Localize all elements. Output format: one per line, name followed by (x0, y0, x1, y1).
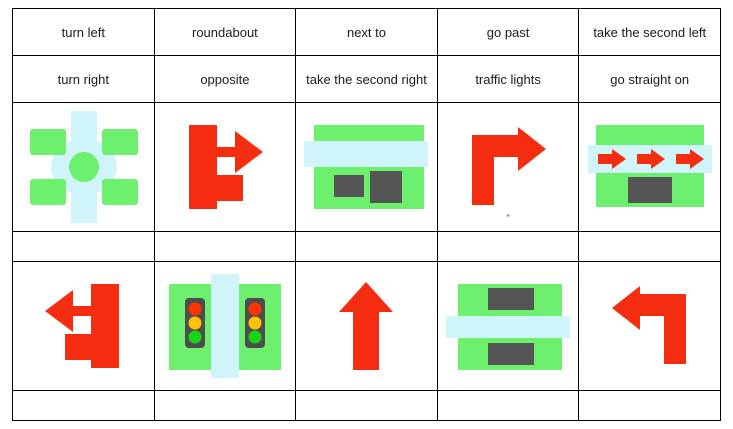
answer-cell[interactable] (154, 232, 296, 262)
go-straight-on-arrow-icon (296, 262, 437, 390)
vocab-label: turn left (62, 25, 105, 40)
vocab-cell-opposite: opposite (154, 56, 296, 103)
answer-cell[interactable] (13, 232, 155, 262)
answer-row-1 (13, 232, 721, 262)
icon-cell-take-second-right (154, 103, 296, 232)
answer-row-2 (13, 391, 721, 421)
answer-cell[interactable] (13, 391, 155, 421)
traffic-lights-icon (155, 262, 296, 390)
answer-cell[interactable] (296, 391, 438, 421)
vocab-cell-next-to: next to (296, 9, 438, 56)
vocab-label: next to (347, 25, 386, 40)
icon-cell-opposite (437, 262, 579, 391)
vocab-label: take the second left (593, 25, 706, 40)
vocab-label: take the second right (306, 72, 427, 87)
take-second-right-arrow-icon (155, 103, 296, 231)
icon-cell-turn-left (579, 262, 721, 391)
answer-cell[interactable] (579, 391, 721, 421)
answer-cell[interactable] (437, 232, 579, 262)
vocabulary-row-2: turn right opposite take the second righ… (13, 56, 721, 103)
vocab-label: roundabout (192, 25, 258, 40)
take-second-left-arrow-icon (13, 262, 154, 390)
opposite-buildings-icon (438, 262, 579, 390)
go-past-arrows-icon (579, 103, 720, 231)
vocab-cell-go-straight-on: go straight on (579, 56, 721, 103)
vocab-label: go straight on (610, 72, 689, 87)
quote-artifact: " (506, 214, 510, 223)
icon-row-1: " (13, 103, 721, 232)
icon-row-2 (13, 262, 721, 391)
icon-cell-take-second-left (13, 262, 155, 391)
vocab-label: turn right (58, 72, 109, 87)
answer-cell[interactable] (437, 391, 579, 421)
icon-cell-traffic-lights (154, 262, 296, 391)
vocabulary-row-1: turn left roundabout next to go past tak… (13, 9, 721, 56)
worksheet-page: turn left roundabout next to go past tak… (0, 0, 733, 429)
next-to-buildings-icon (296, 103, 437, 231)
vocab-label: go past (487, 25, 530, 40)
vocab-cell-take-the-second-left: take the second left (579, 9, 721, 56)
answer-cell[interactable] (296, 232, 438, 262)
icon-cell-go-straight-on (296, 262, 438, 391)
vocab-label: opposite (200, 72, 249, 87)
turn-left-arrow-icon (579, 262, 720, 390)
roundabout-icon (13, 103, 154, 231)
vocab-cell-go-past: go past (437, 9, 579, 56)
answer-cell[interactable] (579, 232, 721, 262)
icon-cell-turn-right: " (437, 103, 579, 232)
answer-cell[interactable] (154, 391, 296, 421)
icon-cell-next-to (296, 103, 438, 232)
directions-vocabulary-table: turn left roundabout next to go past tak… (12, 8, 721, 421)
turn-right-arrow-icon: " (438, 103, 579, 231)
vocab-cell-traffic-lights: traffic lights (437, 56, 579, 103)
icon-cell-go-past (579, 103, 721, 232)
vocab-cell-turn-left: turn left (13, 9, 155, 56)
icon-cell-roundabout (13, 103, 155, 232)
vocab-cell-roundabout: roundabout (154, 9, 296, 56)
vocab-cell-turn-right: turn right (13, 56, 155, 103)
vocab-label: traffic lights (475, 72, 541, 87)
vocab-cell-take-the-second-right: take the second right (296, 56, 438, 103)
